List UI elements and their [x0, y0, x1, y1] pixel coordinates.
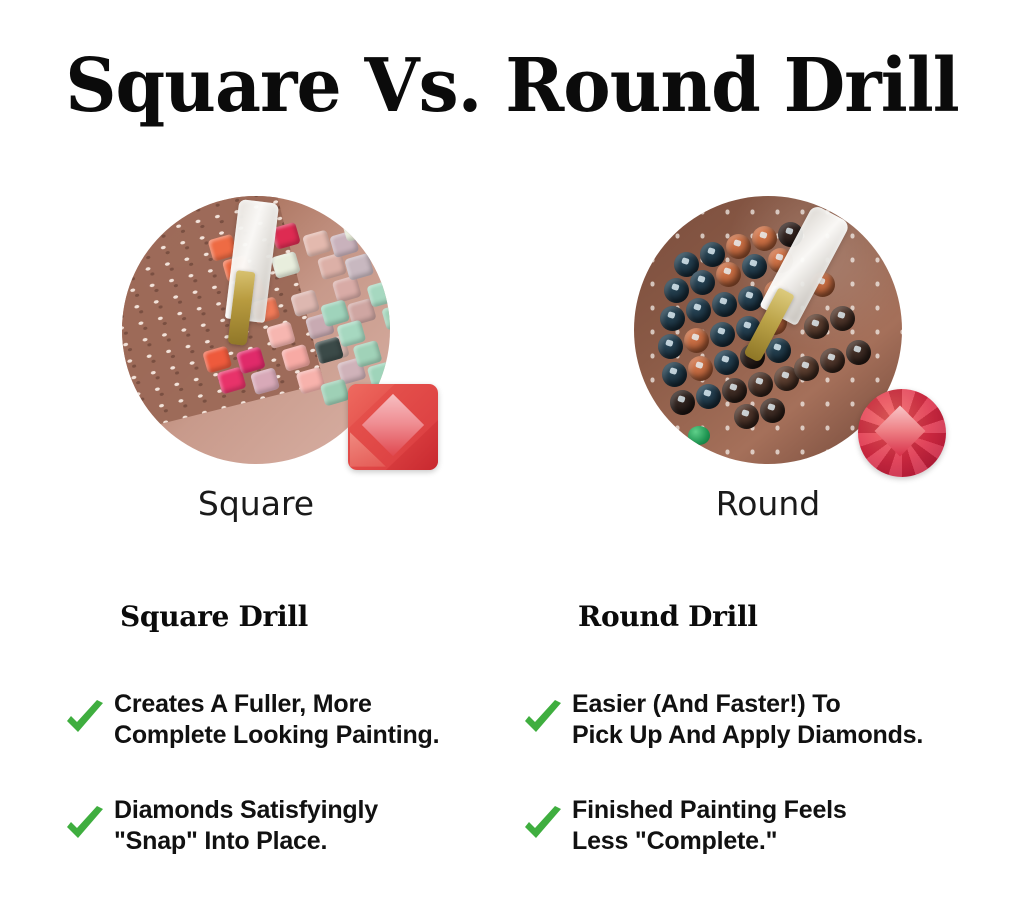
list-item-label: Finished Painting Feels Less "Complete." [572, 795, 847, 857]
round-gem [858, 389, 946, 477]
list-item-label: Creates A Fuller, More Complete Looking … [114, 689, 439, 751]
check-icon [62, 700, 108, 740]
check-icon [520, 700, 566, 740]
list-item: Diamonds Satisfyingly "Snap" Into Place. [62, 794, 524, 858]
list-item: Finished Painting Feels Less "Complete." [520, 794, 982, 858]
comparison-columns: Square Drill Creates A Fuller, More Comp… [0, 600, 1024, 900]
column-heading-square: Square Drill [120, 600, 524, 634]
list-item: Creates A Fuller, More Complete Looking … [62, 688, 524, 752]
column-heading-round: Round Drill [578, 600, 982, 634]
list-item-label: Diamonds Satisfyingly "Snap" Into Place. [114, 795, 378, 857]
square-photo-cell [0, 196, 512, 486]
check-icon [62, 806, 108, 846]
photo-caption-square: Square [0, 482, 512, 526]
green-bead [688, 426, 710, 445]
photo-row [0, 196, 1024, 486]
column-square-drill: Square Drill Creates A Fuller, More Comp… [62, 600, 524, 900]
photo-caption-round: Round [512, 482, 1024, 526]
list-item: Easier (And Faster!) To Pick Up And Appl… [520, 688, 982, 752]
round-photo-cell [512, 196, 1024, 486]
list-item-label: Easier (And Faster!) To Pick Up And Appl… [572, 689, 923, 751]
page-title: Square Vs. Round Drill [20, 42, 1003, 130]
check-icon [520, 806, 566, 846]
square-gem [348, 384, 438, 470]
caption-row: Square Round [0, 482, 1024, 532]
column-round-drill: Round Drill Easier (And Faster!) To Pick… [520, 600, 982, 900]
